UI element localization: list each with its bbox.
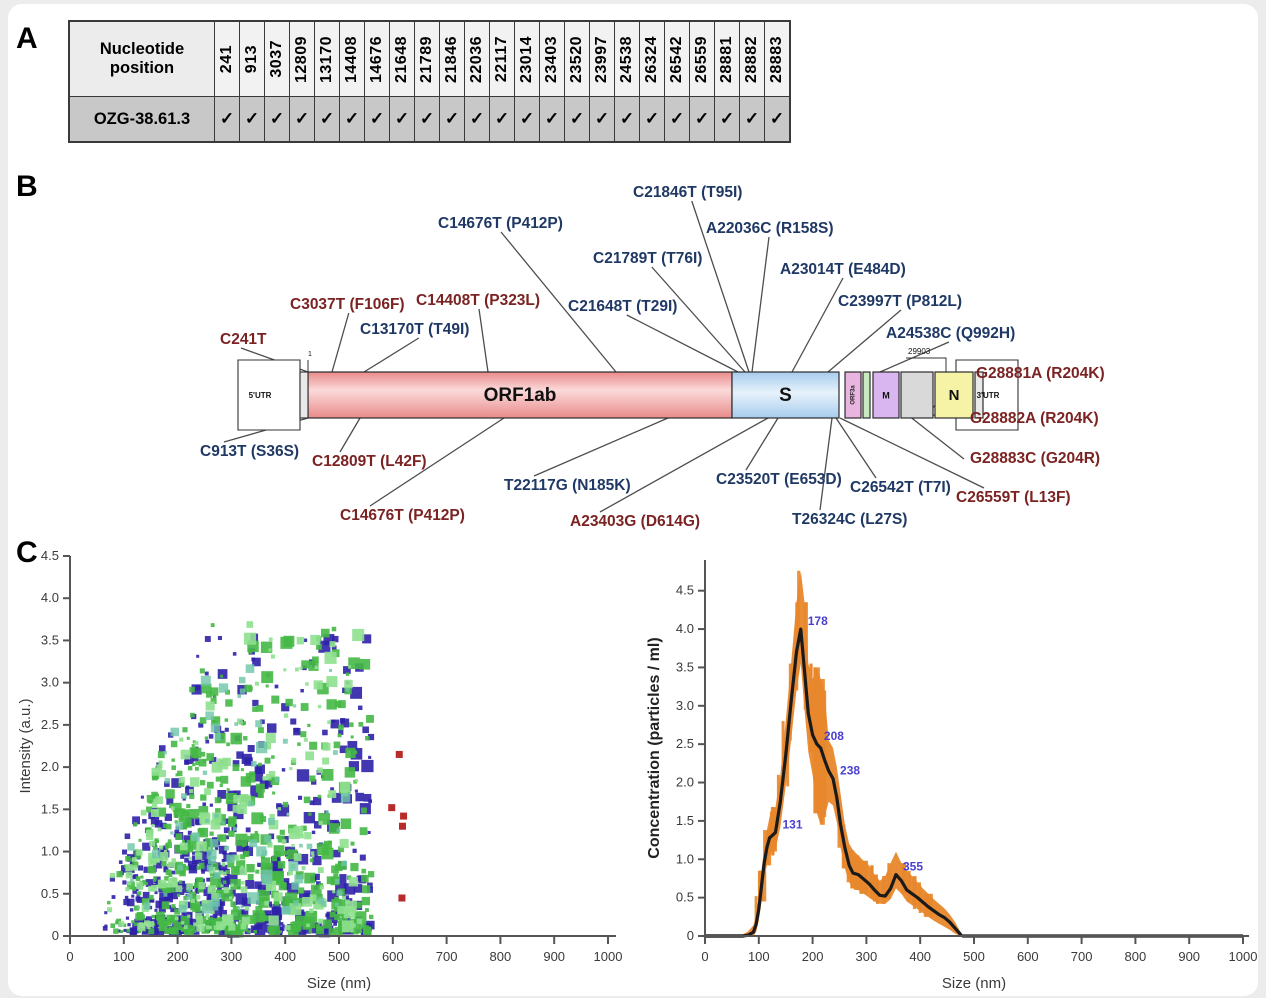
table-header-position: 241 [215, 21, 240, 97]
x-tick-label: 0 [701, 949, 708, 964]
y-tick-label: 4.0 [676, 621, 694, 636]
position-value: 23403 [543, 36, 561, 83]
position-value: 13170 [318, 36, 336, 83]
table-cell-check: ✓ [765, 97, 791, 143]
x-tick-label: 100 [748, 949, 770, 964]
position-value: 913 [243, 45, 261, 73]
position-value: 22117 [493, 36, 511, 82]
labels-bottom: C913T (S36S)C12809T (L42F)C14676T (P412P… [200, 443, 1071, 530]
svg-text:29903: 29903 [908, 347, 931, 356]
x-tick-label: 0 [66, 949, 73, 964]
position-value: 3037 [268, 40, 286, 78]
mutation-label-top: C241T [220, 331, 267, 348]
table-cell-check: ✓ [390, 97, 415, 143]
y-tick-label: 4.5 [41, 548, 59, 563]
position-value: 28881 [718, 36, 736, 83]
x-tick-label: 700 [436, 949, 458, 964]
mutation-label-right: G28883C (G204R) [970, 450, 1100, 467]
table-cell-check: ✓ [440, 97, 465, 143]
table-cell-check: ✓ [540, 97, 565, 143]
y-tick-label: 0.5 [676, 890, 694, 905]
x-tick-label: 600 [382, 949, 404, 964]
y-tick-label: 0.5 [41, 886, 59, 901]
mutation-label-top: C14408T (P323L) [416, 292, 540, 309]
mutation-label-top: A24538C (Q992H) [886, 325, 1015, 342]
mutation-label-bottom: C26542T (T7I) [850, 479, 951, 496]
table-cell-check: ✓ [690, 97, 715, 143]
nta-line-chart: 00.51.01.52.02.53.03.54.04.5010020030040… [633, 538, 1258, 996]
labels-right: G28881A (R204K)G28882A (R204K)G28883C (G… [970, 365, 1105, 467]
svg-text:ORF1ab: ORF1ab [484, 385, 557, 406]
mutation-label-top: C21648T (T29I) [568, 298, 677, 315]
x-tick-label: 400 [274, 949, 296, 964]
genome-bar: ORF1abSORF3aMN5'UTR3'UTR129903 [238, 347, 1018, 430]
position-value: 23997 [593, 36, 611, 83]
mutation-label-bottom: C26559T (L13F) [956, 489, 1071, 506]
y-tick-label: 1.0 [676, 851, 694, 866]
x-tick-label: 800 [490, 949, 512, 964]
y-tick-label: 3.0 [676, 698, 694, 713]
y-axis-title: Intensity (a.u.) [17, 698, 34, 793]
y-tick-label: 0 [52, 928, 59, 943]
mutation-label-top: C14676T (P412P) [438, 215, 563, 232]
y-tick-label: 1.5 [676, 813, 694, 828]
peak-label: 238 [840, 764, 860, 778]
figure-card: A Nucleotide position 241913303712809131… [8, 4, 1258, 996]
table-header-position: 28882 [740, 21, 765, 97]
table-header-position: 21648 [390, 21, 415, 97]
table-header-position: 26559 [690, 21, 715, 97]
table-header-position: 21846 [440, 21, 465, 97]
table-header-position: 14676 [365, 21, 390, 97]
svg-text:5'UTR: 5'UTR [249, 391, 272, 400]
y-tick-label: 2.0 [41, 759, 59, 774]
table-cell-check: ✓ [240, 97, 265, 143]
table-cell-check: ✓ [515, 97, 540, 143]
position-value: 21846 [443, 36, 461, 83]
table-header-position: 24538 [615, 21, 640, 97]
y-tick-label: 4.0 [41, 590, 59, 605]
labels-top: C241TC3037T (F106F)C13170T (T49I)C14408T… [220, 184, 1015, 348]
mutation-label-top: A22036C (R158S) [706, 220, 834, 237]
table-header-position: 22036 [465, 21, 490, 97]
x-tick-label: 900 [1178, 949, 1200, 964]
peak-label: 355 [903, 860, 923, 874]
mutation-label-top: C21846T (T95I) [633, 184, 742, 201]
position-value: 24538 [618, 36, 636, 83]
peak-label: 178 [808, 614, 828, 628]
position-value: 26559 [693, 36, 711, 83]
table-header-position: 23520 [565, 21, 590, 97]
table-header-position: 23014 [515, 21, 540, 97]
table-header-position: 12809 [290, 21, 315, 97]
scatter-chart: 00.51.01.52.02.53.03.54.04.5010020030040… [8, 538, 633, 996]
position-value: 21789 [418, 36, 436, 83]
table-header-position: 13170 [315, 21, 340, 97]
table-cell-check: ✓ [465, 97, 490, 143]
panel-c-charts: 00.51.01.52.02.53.03.54.04.5010020030040… [8, 538, 1258, 996]
x-tick-label: 300 [856, 949, 878, 964]
svg-text:M: M [882, 390, 890, 400]
position-value: 22036 [468, 36, 486, 83]
x-tick-label: 1000 [1229, 949, 1258, 964]
mutation-label-bottom: C12809T (L42F) [312, 453, 427, 470]
x-tick-label: 900 [543, 949, 565, 964]
x-axis-title: Size (nm) [942, 975, 1006, 992]
mutation-label-right: G28881A (R204K) [976, 365, 1105, 382]
table-header-position: 23403 [540, 21, 565, 97]
position-value: 26542 [668, 36, 686, 83]
position-value: 23520 [568, 36, 586, 83]
peak-label: 208 [824, 729, 844, 743]
panel-a-table-wrap: Nucleotide position 24191330371280913170… [68, 20, 791, 143]
mutation-label-bottom: C913T (S36S) [200, 443, 299, 460]
table-header-position: 26542 [665, 21, 690, 97]
table-header-row: Nucleotide position 24191330371280913170… [69, 21, 790, 97]
table-header-position: 21789 [415, 21, 440, 97]
mutation-label-bottom: A23403G (D614G) [570, 513, 700, 530]
table-cell-check: ✓ [565, 97, 590, 143]
table-header-position: 913 [240, 21, 265, 97]
table-cell-check: ✓ [290, 97, 315, 143]
table-header-position: 23997 [590, 21, 615, 97]
scatter-points [103, 621, 407, 938]
table-header-position: 26324 [640, 21, 665, 97]
table-header-nucleotide-position: Nucleotide position [69, 21, 215, 97]
mutation-label-top: C13170T (T49I) [360, 321, 469, 338]
svg-text:ORF3a: ORF3a [851, 385, 857, 405]
y-tick-label: 2.5 [41, 717, 59, 732]
table-cell-check: ✓ [740, 97, 765, 143]
x-tick-label: 500 [328, 949, 350, 964]
table-cell-check: ✓ [665, 97, 690, 143]
table-header-position: 22117 [490, 21, 515, 97]
table-cell-check: ✓ [340, 97, 365, 143]
y-tick-label: 1.0 [41, 844, 59, 859]
table-cell-check: ✓ [365, 97, 390, 143]
svg-text:1: 1 [308, 351, 312, 358]
x-tick-label: 600 [1017, 949, 1039, 964]
y-tick-label: 3.5 [41, 632, 59, 647]
mutation-label-bottom: T22117G (N185K) [504, 477, 631, 494]
mutation-label-bottom: C23520T (E653D) [716, 471, 842, 488]
mutation-label-top: C3037T (F106F) [290, 296, 405, 313]
x-tick-label: 200 [167, 949, 189, 964]
x-tick-label: 200 [802, 949, 824, 964]
x-tick-label: 800 [1125, 949, 1147, 964]
table-cell-check: ✓ [415, 97, 440, 143]
mutation-label-bottom: C14676T (P412P) [340, 507, 465, 524]
position-value: 28882 [743, 36, 761, 83]
y-tick-label: 3.5 [676, 659, 694, 674]
table-cell-check: ✓ [215, 97, 240, 143]
panel-a-letter: A [16, 22, 38, 56]
table-header-position: 28881 [715, 21, 740, 97]
x-tick-label: 400 [909, 949, 931, 964]
table-cell-check: ✓ [490, 97, 515, 143]
table-cell-check: ✓ [265, 97, 290, 143]
x-tick-label: 1000 [594, 949, 623, 964]
table-cell-check: ✓ [715, 97, 740, 143]
x-tick-label: 700 [1071, 949, 1093, 964]
y-tick-label: 2.0 [676, 775, 694, 790]
mutation-table: Nucleotide position 24191330371280913170… [68, 20, 791, 143]
position-value: 28883 [768, 36, 786, 83]
y-axis-title: Concentration (particles / ml) [646, 637, 663, 858]
table-cell-check: ✓ [315, 97, 340, 143]
position-value: 14408 [343, 36, 361, 83]
x-tick-label: 500 [963, 949, 985, 964]
y-tick-label: 3.0 [41, 675, 59, 690]
table-cell-check: ✓ [615, 97, 640, 143]
leader-lines-top [241, 201, 949, 372]
position-value: 14676 [368, 36, 386, 83]
mutation-label-bottom: T26324C (L27S) [792, 511, 907, 528]
svg-text:N: N [949, 387, 960, 404]
y-tick-label: 2.5 [676, 736, 694, 751]
svg-text:S: S [779, 385, 792, 406]
position-value: 26324 [643, 36, 661, 83]
panel-b-genome-map: ORF1abSORF3aMN5'UTR3'UTR129903 C241TC303… [8, 172, 1258, 544]
table-header-position: 28883 [765, 21, 791, 97]
nta-band [705, 571, 961, 936]
x-tick-label: 100 [113, 949, 135, 964]
position-value: 21648 [393, 36, 411, 83]
y-tick-label: 0 [687, 928, 694, 943]
x-axis-title: Size (nm) [307, 975, 371, 992]
position-value: 241 [218, 45, 236, 73]
genome-map-svg: ORF1abSORF3aMN5'UTR3'UTR129903 C241TC303… [8, 172, 1258, 544]
table-row-label: OZG-38.61.3 [69, 97, 215, 143]
table-data-row: OZG-38.61.3 ✓✓✓✓✓✓✓✓✓✓✓✓✓✓✓✓✓✓✓✓✓✓✓ [69, 97, 790, 143]
position-value: 12809 [293, 36, 311, 83]
peak-label: 131 [782, 817, 802, 831]
table-cell-check: ✓ [590, 97, 615, 143]
y-tick-label: 1.5 [41, 801, 59, 816]
position-value: 23014 [518, 36, 536, 83]
table-header-position: 3037 [265, 21, 290, 97]
mutation-label-right: G28882A (R204K) [970, 410, 1099, 427]
y-tick-label: 4.5 [676, 583, 694, 598]
x-tick-label: 300 [221, 949, 243, 964]
table-header-position: 14408 [340, 21, 365, 97]
table-cell-check: ✓ [640, 97, 665, 143]
svg-text:3'UTR: 3'UTR [977, 391, 1000, 400]
mutation-label-top: C23997T (P812L) [838, 293, 962, 310]
mutation-label-top: A23014T (E484D) [780, 261, 906, 278]
mutation-label-top: C21789T (T76I) [593, 250, 702, 267]
